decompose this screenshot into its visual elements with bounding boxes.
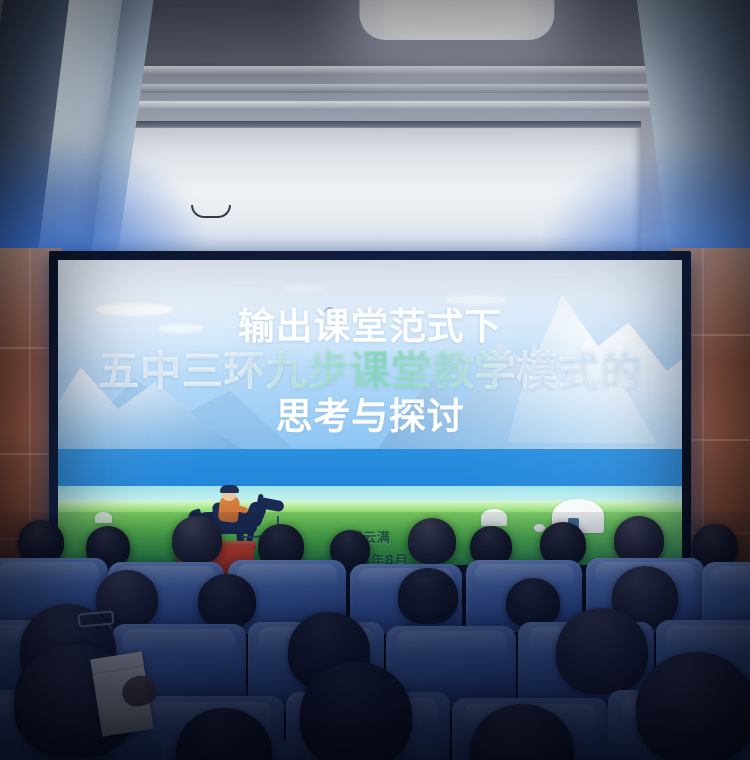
ceiling-recess-lip: [109, 121, 642, 128]
audience-head: [408, 518, 456, 564]
audience-head: [556, 608, 648, 694]
slide-title-line-1: 输出课堂范式下: [238, 307, 502, 346]
audience-head: [172, 516, 222, 564]
ceiling: [0, 0, 750, 252]
ceiling-cornice-a: [60, 66, 690, 75]
ceiling-cornice-c: [60, 101, 690, 110]
audience-head-foreground: [300, 662, 412, 760]
audience-head: [506, 578, 560, 628]
audience-head-foreground: [636, 652, 750, 760]
audience-head: [614, 516, 664, 564]
ceiling-panel-light: [359, 0, 554, 40]
ceiling-blue-glow-right: [550, 148, 750, 252]
ceiling-blue-glow-left: [0, 142, 200, 252]
slide-title-line-2: 五中三环九步课堂教学模式的: [98, 350, 642, 393]
conference-hall-scene: 输出课堂范式下 五中三环九步课堂教学模式的 思考与探讨 范云满 2024年8月: [0, 0, 750, 760]
audience-head: [198, 574, 256, 628]
audience-head: [398, 568, 458, 624]
ceiling-cornice-b: [60, 84, 690, 93]
slide-title-line-3: 思考与探讨: [276, 397, 465, 436]
